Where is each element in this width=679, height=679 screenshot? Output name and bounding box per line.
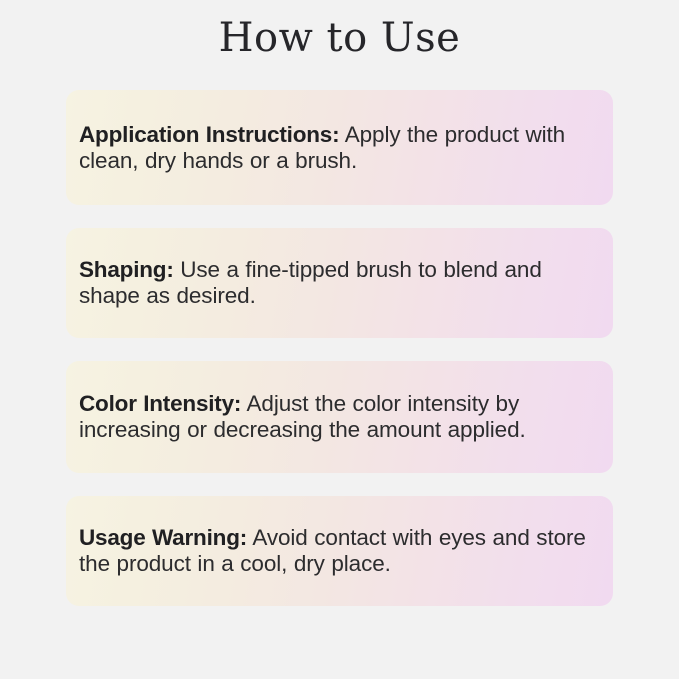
instruction-card-label: Shaping: (79, 257, 174, 282)
instruction-card: Usage Warning: Avoid contact with eyes a… (66, 496, 613, 606)
instruction-card-text: Shaping: Use a fine-tipped brush to blen… (79, 257, 589, 309)
instruction-card-text: Color Intensity: Adjust the color intens… (79, 391, 589, 443)
instruction-card-label: Usage Warning: (79, 525, 247, 550)
instruction-card-text: Usage Warning: Avoid contact with eyes a… (79, 525, 589, 577)
instruction-card: Shaping: Use a fine-tipped brush to blen… (66, 228, 613, 338)
instruction-card-text: Application Instructions: Apply the prod… (79, 122, 589, 174)
how-to-use-page: How to Use Application Instructions: App… (0, 0, 679, 679)
instruction-card-label: Color Intensity: (79, 391, 241, 416)
instruction-card: Application Instructions: Apply the prod… (66, 90, 613, 205)
instruction-card: Color Intensity: Adjust the color intens… (66, 361, 613, 473)
page-title: How to Use (0, 18, 679, 58)
instruction-card-list: Application Instructions: Apply the prod… (66, 90, 613, 606)
instruction-card-label: Application Instructions: (79, 122, 339, 147)
